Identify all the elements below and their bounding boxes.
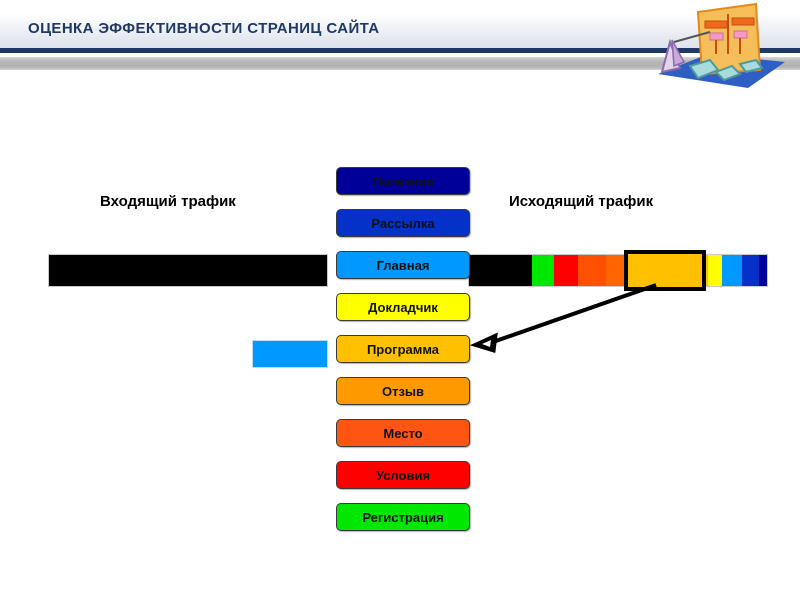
page-button-label: Рассылка bbox=[371, 216, 434, 231]
outgoing-orangered bbox=[578, 255, 606, 286]
page-button-1[interactable]: Рассылка bbox=[336, 209, 470, 237]
page-button-label: Программа bbox=[367, 342, 439, 357]
outgoing-lightblue bbox=[722, 255, 742, 286]
highlighted-segment[interactable] bbox=[624, 250, 706, 291]
outgoing-green bbox=[532, 255, 554, 286]
page-button-7[interactable]: Условия bbox=[336, 461, 470, 489]
outgoing-traffic-label: Исходящий трафик bbox=[509, 193, 653, 210]
presentation-board-illustration bbox=[650, 2, 800, 90]
outgoing-blue bbox=[742, 255, 759, 286]
incoming-traffic-bar bbox=[48, 254, 328, 287]
slide-canvas: ОЦЕНКА ЭФФЕКТИВНОСТИ СТРАНИЦ САЙТА bbox=[0, 0, 800, 600]
outgoing-yellow bbox=[708, 255, 722, 286]
page-button-label: Место bbox=[383, 426, 422, 441]
incoming-traffic-label: Входящий трафик bbox=[100, 193, 236, 210]
outgoing-red bbox=[554, 255, 578, 286]
outgoing-navy bbox=[759, 255, 767, 286]
page-button-4[interactable]: Программа bbox=[336, 335, 470, 363]
page-button-label: Отзыв bbox=[382, 384, 424, 399]
page-button-label: Регистрация bbox=[362, 510, 443, 525]
program-incoming-swatch bbox=[252, 340, 328, 368]
page-button-label: Докладчик bbox=[368, 300, 438, 315]
page-button-5[interactable]: Отзыв bbox=[336, 377, 470, 405]
outgoing-traffic-bar bbox=[468, 254, 768, 287]
page-button-2[interactable]: Главная bbox=[336, 251, 470, 279]
page-button-3[interactable]: Докладчик bbox=[336, 293, 470, 321]
page-title: ОЦЕНКА ЭФФЕКТИВНОСТИ СТРАНИЦ САЙТА bbox=[28, 20, 379, 37]
page-button-8[interactable]: Регистрация bbox=[336, 503, 470, 531]
page-button-label: Полезное bbox=[372, 174, 434, 189]
page-button-0[interactable]: Полезное bbox=[336, 167, 470, 195]
page-button-6[interactable]: Место bbox=[336, 419, 470, 447]
page-buttons-column: ПолезноеРассылкаГлавнаяДокладчикПрограмм… bbox=[336, 167, 470, 545]
outgoing-orange bbox=[606, 255, 626, 286]
outgoing-black bbox=[469, 255, 532, 286]
page-button-label: Главная bbox=[377, 258, 430, 273]
page-button-label: Условия bbox=[376, 468, 430, 483]
